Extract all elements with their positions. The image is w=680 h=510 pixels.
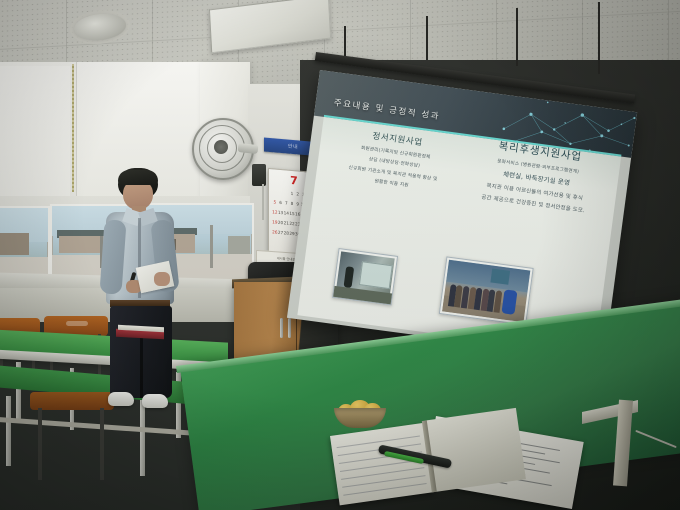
projector-screen: 주요내용 및 긍정적 성과 정서지원사업 회원관리(기록지및 신규회원판정체 상…: [316, 52, 668, 352]
roller-blind-left: [0, 66, 70, 216]
basket-bowl: [334, 408, 386, 428]
fan-mount-box: [252, 164, 266, 186]
presenter-hand-right: [154, 272, 170, 286]
slide-photo-group: [439, 256, 534, 325]
notebook-right-page: [425, 408, 526, 492]
fruit-basket: [334, 398, 386, 428]
fan-hub: [214, 140, 228, 154]
cabinet-handle-right[interactable]: [288, 318, 291, 338]
presenter: [96, 168, 182, 444]
presenter-shoe-right: [142, 394, 168, 408]
table-leg: [6, 396, 11, 466]
presenter-shoe-left: [108, 392, 134, 406]
screen-rod: [516, 8, 518, 66]
lecture-photo-image: [335, 251, 394, 302]
slide-left-column: 정서지원사업 회원관리(기록지및 신규회원판정체 상담 (내방상담·전화상담) …: [326, 124, 464, 195]
group-photo-image: [442, 260, 530, 322]
calendar-month: 7: [288, 174, 300, 188]
wall-fan-icon: [192, 118, 256, 182]
notebook-left-page: [330, 423, 435, 506]
presenter-hair-front: [118, 170, 158, 185]
blind-chain: [72, 64, 74, 192]
screen-rod: [426, 16, 428, 60]
screen-rod: [344, 26, 346, 56]
fan-arm: [238, 143, 259, 154]
slide-photo-lecture: [332, 248, 398, 305]
screen-rod: [598, 2, 600, 74]
chair-foreground-right[interactable]: [582, 406, 648, 510]
cabinet-handle-left[interactable]: [280, 318, 283, 338]
fan-cord: [262, 184, 264, 220]
pants-seam: [140, 338, 143, 398]
classroom-presentation-photo: 안내 7 12345678910111213141516171819202122…: [0, 0, 680, 510]
